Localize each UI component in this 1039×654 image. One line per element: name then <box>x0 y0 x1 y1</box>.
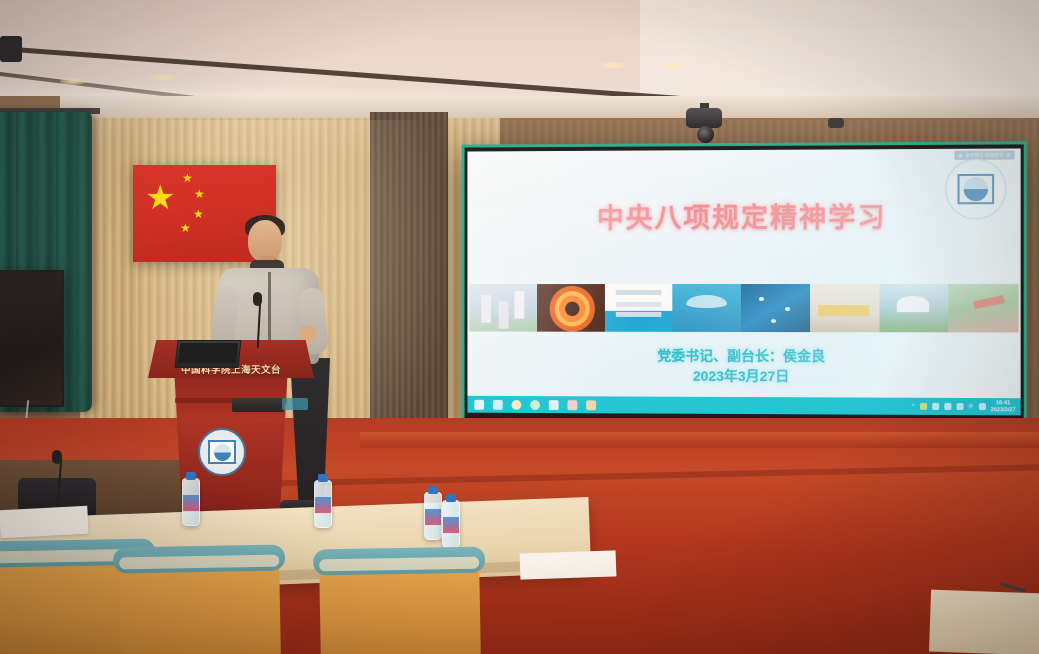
taskbar-tray[interactable]: ^ 中 16:41 2023/3/27 <box>912 400 1021 413</box>
black-hole-image <box>537 284 605 332</box>
chair <box>119 549 281 654</box>
chair-back <box>119 549 281 654</box>
desk-paper <box>0 506 89 539</box>
ceiling-light <box>660 62 686 69</box>
chevron-up-icon[interactable]: ^ <box>912 403 914 409</box>
flag-star-small: ★ <box>194 188 205 200</box>
flag-star-large: ★ <box>145 181 175 215</box>
taskbar-icon-group[interactable] <box>467 399 596 410</box>
side-desk <box>929 590 1039 654</box>
podium-microphone-icon[interactable] <box>253 292 262 306</box>
app-icon[interactable] <box>586 400 596 410</box>
desk-microphone-icon[interactable] <box>52 450 62 464</box>
conference-room-photo: ★ ★ ★ ★ ★ ◉ 录音转写 语音转写 ⚙ 中央八项规定精神学习 <box>0 0 1039 654</box>
windows-taskbar[interactable]: ^ 中 16:41 2023/3/27 <box>467 396 1020 416</box>
presentation-slide: ◉ 录音转写 语音转写 ⚙ 中央八项规定精神学习 <box>467 148 1020 401</box>
water-bottle <box>424 492 442 540</box>
podium-control-box[interactable] <box>232 398 284 412</box>
flag-star-small: ★ <box>180 222 191 234</box>
volume-icon[interactable] <box>956 403 963 410</box>
ceiling-light <box>600 62 626 69</box>
settings-icon: ⚙ <box>1006 152 1010 158</box>
desk-paper <box>520 550 617 579</box>
taskbar-clock[interactable]: 16:41 2023/3/27 <box>991 400 1016 413</box>
chair-back <box>319 551 481 654</box>
slide-overlay-toolbar[interactable]: ◉ 录音转写 语音转写 ⚙ <box>954 151 1014 160</box>
radio-telescope-photo <box>673 284 741 332</box>
water-bottle <box>442 500 460 548</box>
bottle-cap <box>428 486 438 494</box>
slide-subtitle-block: 党委书记、副台长：侯金良 2023年3月27日 <box>467 345 1020 387</box>
record-icon: ◉ <box>958 152 962 158</box>
bottle-label <box>315 497 331 513</box>
flag-star-small: ★ <box>193 208 204 220</box>
emblem-dome-icon <box>214 444 231 461</box>
bottle-label <box>183 495 199 511</box>
bottle-label <box>425 509 441 525</box>
water-bottle <box>314 480 332 528</box>
slide-overlay-label: 录音转写 语音转写 <box>965 152 1003 158</box>
aerial-campus-photo <box>949 284 1019 333</box>
ceiling-speaker <box>828 118 844 128</box>
facility-building-photo <box>810 284 879 332</box>
cloud-icon[interactable] <box>920 403 927 410</box>
stage-step <box>360 432 1039 448</box>
document-cover-photo <box>604 284 672 332</box>
notification-icon[interactable] <box>978 403 985 410</box>
camera-lens-icon <box>697 126 714 143</box>
slide-title: 中央八项规定精神学习 <box>467 195 1020 236</box>
wall-top-strip <box>60 96 1039 118</box>
podium-laptop[interactable] <box>175 340 242 368</box>
ime-indicator[interactable]: 中 <box>968 403 973 410</box>
projection-screen[interactable]: ◉ 录音转写 语音转写 ⚙ 中央八项规定精神学习 <box>462 141 1027 434</box>
flag-star-small: ★ <box>182 172 193 184</box>
speaker-hand <box>299 326 317 342</box>
cityscape-photo <box>469 284 536 332</box>
bottle-cap <box>318 474 328 482</box>
search-icon[interactable] <box>511 399 521 409</box>
wall-tv-monitor <box>0 270 64 407</box>
emblem-inner-frame <box>208 440 236 464</box>
slide-date-line: 2023年3月27日 <box>467 365 1020 387</box>
network-icon[interactable] <box>932 403 939 410</box>
chair <box>319 551 481 654</box>
browser-icon[interactable] <box>530 400 540 410</box>
downlight <box>870 86 882 91</box>
ceiling-projector <box>0 36 22 62</box>
ceiling-light <box>150 74 176 81</box>
shop-icon[interactable] <box>567 400 577 410</box>
satellite-map-photo <box>741 284 810 332</box>
bottle-cap <box>446 494 456 502</box>
ceiling-light <box>60 78 86 85</box>
file-explorer-icon[interactable] <box>493 399 503 409</box>
taskbar-date: 2023/3/27 <box>991 407 1016 413</box>
observatory-dome-photo <box>879 284 949 332</box>
bottle-label <box>443 517 459 533</box>
bluetooth-icon[interactable] <box>944 403 951 410</box>
slide-presenter-line: 党委书记、副台长：侯金良 <box>467 345 1020 367</box>
ceiling-camera <box>686 108 722 128</box>
media-icon[interactable] <box>549 400 559 410</box>
start-icon[interactable] <box>474 399 484 409</box>
water-bottle <box>182 478 200 526</box>
bottle-cap <box>186 472 196 480</box>
podium-teal-device[interactable] <box>282 398 308 410</box>
slide-image-strip <box>469 284 1018 333</box>
observatory-emblem <box>198 428 246 476</box>
laptop-screen <box>178 343 238 363</box>
